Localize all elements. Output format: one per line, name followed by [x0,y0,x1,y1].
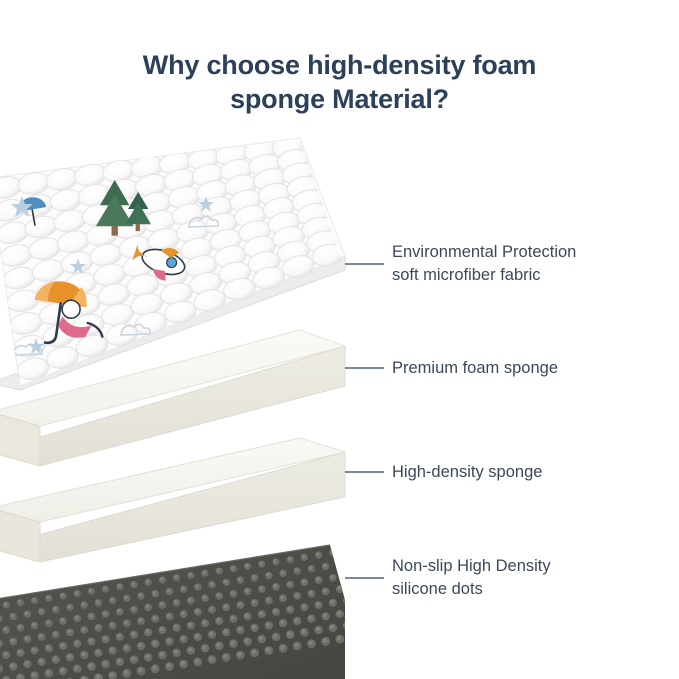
callout-premium-line1: Premium foam sponge [392,359,558,377]
callout-nonslip-line1: Non-slip High Density [392,557,551,575]
callout-high-density: High-density sponge [392,461,542,484]
illustration-canvas: Why choose high-density foam sponge Mate… [0,0,679,679]
callout-fabric-line2: soft microfiber fabric [392,264,576,287]
callout-fabric-line1: Environmental Protection [392,243,576,261]
callout-non-slip: Non-slip High Density silicone dots [392,555,551,601]
leader-lines [345,264,384,578]
layer-non-slip [0,545,358,679]
callout-high-density-line1: High-density sponge [392,463,542,481]
callout-nonslip-line2: silicone dots [392,578,551,601]
callout-environmental-protection: Environmental Protection soft microfiber… [392,241,576,287]
exploded-layer-stack [0,0,679,679]
callout-premium-foam: Premium foam sponge [392,357,558,380]
